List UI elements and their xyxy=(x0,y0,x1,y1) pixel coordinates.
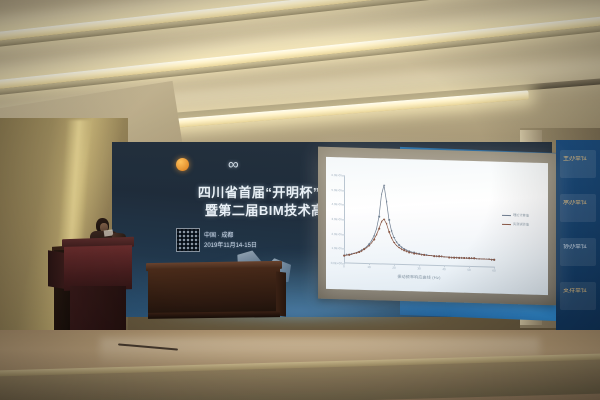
chart-data-point xyxy=(476,258,478,260)
chart-data-point xyxy=(486,258,488,260)
venue-location: 中国 · 成都 xyxy=(204,230,233,239)
y-tick-label: 3.0E-05 xyxy=(328,217,342,221)
chart-data-point xyxy=(356,252,358,254)
chart-legend: 理论计算值实测试验值 xyxy=(502,212,546,231)
orange-circle-logo xyxy=(176,158,189,171)
chart-data-point xyxy=(343,255,345,257)
side-panel-block xyxy=(560,238,596,266)
chart-data-point xyxy=(411,252,413,254)
chart-data-point xyxy=(391,237,393,239)
y-tick-label: 0.0E+00 xyxy=(328,261,342,265)
chart-data-point xyxy=(363,249,365,251)
legend-item: 理论计算值 xyxy=(502,212,546,220)
chart-data-point xyxy=(353,253,355,255)
chart-data-point xyxy=(371,242,373,244)
legend-item: 实测试验值 xyxy=(502,221,546,229)
chart-data-point xyxy=(418,253,420,255)
chart-data-point xyxy=(416,253,418,255)
x-tick-label: 20 xyxy=(392,266,395,270)
chart-data-point xyxy=(413,253,415,255)
x-tick-label: 50 xyxy=(467,268,470,272)
legend-label: 实测试验值 xyxy=(513,221,529,228)
chart-data-point xyxy=(448,256,450,258)
chart-data-point xyxy=(426,254,428,256)
chart-data-point xyxy=(388,219,390,221)
chart-data-point xyxy=(471,258,473,260)
side-panel-text: 承办单位 xyxy=(563,200,595,207)
chart-data-point xyxy=(438,256,440,258)
chart-data-point xyxy=(398,244,400,246)
chart-data-point xyxy=(468,258,470,260)
conference-hall-photo: ∞ 四川省首届“开明杯”BIM大赛 暨第二届BIM技术高峰论坛 中国 · 成都 … xyxy=(0,0,600,400)
chart-data-point xyxy=(386,223,388,225)
side-panel-block xyxy=(560,282,596,310)
legend-swatch xyxy=(502,215,511,216)
chart-data-point xyxy=(378,216,380,218)
side-panel-text: 支持单位 xyxy=(563,288,595,295)
chart-data-point xyxy=(361,250,363,252)
chart-data-point xyxy=(488,258,490,260)
y-tick-label: 1.0E-05 xyxy=(328,246,342,250)
infinity-icon: ∞ xyxy=(228,158,262,171)
legend-label: 理论计算值 xyxy=(513,212,529,219)
x-tick-label: 40 xyxy=(442,267,445,271)
chart-data-point xyxy=(428,255,430,257)
chart-data-point xyxy=(408,251,410,253)
slide-content: 0.0E+001.0E-052.0E-053.0E-054.0E-055.0E-… xyxy=(326,157,548,295)
chart-data-point xyxy=(383,218,385,220)
line-chart: 0.0E+001.0E-052.0E-053.0E-054.0E-055.0E-… xyxy=(344,175,494,267)
chart-data-point xyxy=(446,256,448,258)
side-panel-text: 主办单位 xyxy=(563,156,595,163)
chart-data-point xyxy=(393,237,395,239)
side-panel-text: 协办单位 xyxy=(563,244,595,251)
x-tick-mark xyxy=(494,267,495,269)
x-tick-label: 10 xyxy=(367,265,370,269)
chart-data-point xyxy=(458,257,460,259)
chart-data-point xyxy=(451,256,453,258)
chart-data-point xyxy=(481,258,483,260)
chart-data-point xyxy=(346,254,348,256)
legend-swatch xyxy=(502,224,511,225)
chart-data-point xyxy=(368,245,370,247)
chart-data-point xyxy=(401,248,403,250)
x-tick-label: 60 xyxy=(492,269,495,273)
chart-data-point xyxy=(351,253,353,255)
chart-data-point xyxy=(478,258,480,260)
chart-data-point xyxy=(463,257,465,259)
chart-data-point xyxy=(376,228,378,230)
stage-table-side xyxy=(276,271,286,316)
qr-code-icon xyxy=(176,228,200,252)
backdrop-logo-row: ∞ xyxy=(176,156,296,174)
side-panel-block xyxy=(560,194,596,222)
chart-data-point xyxy=(421,254,423,256)
chart-data-point xyxy=(403,250,405,252)
projection-screen: 0.0E+001.0E-052.0E-053.0E-054.0E-055.0E-… xyxy=(326,157,548,295)
stage-table xyxy=(148,267,280,317)
chart-data-point xyxy=(378,228,380,230)
chart-data-point xyxy=(473,258,475,260)
chart-data-point xyxy=(436,255,438,257)
chart-data-point xyxy=(431,255,433,257)
x-axis-label: 振动频率响应曲线 (Hz) xyxy=(344,272,494,282)
chart-data-point xyxy=(423,254,425,256)
chart-data-point xyxy=(393,242,395,244)
chart-data-point xyxy=(396,245,398,247)
chart-data-point xyxy=(348,254,350,256)
chart-data-point xyxy=(386,201,388,203)
chart-data-point xyxy=(453,257,455,259)
chart-data-point xyxy=(381,221,383,223)
y-tick-label: 2.0E-05 xyxy=(328,232,342,236)
y-tick-label: 4.0E-05 xyxy=(328,202,342,206)
speaker-podium xyxy=(64,245,132,291)
chart-data-point xyxy=(491,259,493,261)
chart-data-point xyxy=(391,230,393,232)
chart-data-point xyxy=(443,256,445,258)
chart-data-point xyxy=(441,256,443,258)
chart-data-point xyxy=(461,257,463,259)
chart-data-point xyxy=(388,231,390,233)
chart-data-point xyxy=(398,247,400,249)
chart-data-point xyxy=(406,251,408,253)
chart-data-point xyxy=(373,235,375,237)
chart-data-point xyxy=(396,241,398,243)
chart-data-point xyxy=(381,194,383,196)
chart-data-point xyxy=(376,234,378,236)
chart-data-point xyxy=(466,257,468,259)
y-tick-label: 5.0E-05 xyxy=(328,188,342,192)
chart-data-point xyxy=(366,247,368,249)
side-panel-block xyxy=(560,150,596,178)
chart-data-point xyxy=(493,259,495,261)
chart-data-point xyxy=(358,251,360,253)
chart-data-point xyxy=(456,257,458,259)
x-tick-label: 30 xyxy=(417,266,420,270)
venue-date: 2019年11月14-15日 xyxy=(204,240,257,249)
chart-data-point xyxy=(383,184,385,186)
x-tick-label: 0 xyxy=(343,264,345,268)
chart-data-point xyxy=(373,238,375,240)
side-sign-panel: 主办单位 承办单位 协办单位 支持单位 xyxy=(556,140,600,330)
chart-data-point xyxy=(483,258,485,260)
y-tick-label: 6.0E-05 xyxy=(328,173,342,177)
chart-data-point xyxy=(433,255,435,257)
